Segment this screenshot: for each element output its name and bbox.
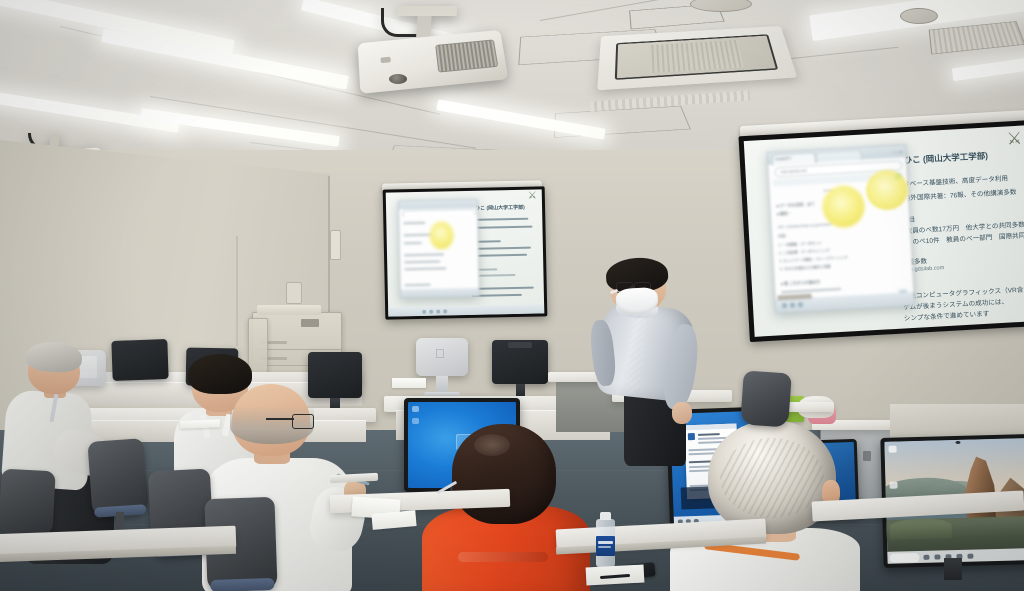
wall-switch[interactable] (330, 230, 341, 260)
taskbar-icon[interactable] (934, 554, 940, 559)
taskbar-search-box[interactable] (889, 553, 919, 563)
slide-title: こひこ (岡山大学工学部) (895, 150, 989, 167)
slide-text-line (471, 254, 527, 257)
handout-papers (392, 378, 426, 388)
printer-top-tray (257, 305, 321, 315)
chair-trim (210, 578, 274, 591)
start-button-icon[interactable] (923, 555, 929, 560)
glasses-temple (266, 418, 294, 420)
browser-tab-strip (399, 200, 477, 210)
office-chair[interactable] (87, 438, 148, 518)
desktop-icon[interactable] (889, 482, 897, 489)
chat-line: 内容： (778, 234, 789, 240)
projector-lens-icon (389, 74, 407, 84)
chat-text-line (404, 261, 440, 263)
chat-line: 1. 一次調査：データセット (779, 241, 823, 248)
wall-corner-seam (236, 236, 238, 346)
taskbar-icon[interactable] (782, 303, 787, 308)
slide-bullet: 国内外国際共著：76報、その他講演多数 (897, 186, 1017, 203)
office-chair[interactable] (0, 469, 56, 538)
attendee-glasses-icon (292, 414, 314, 429)
monitor-mountain-stand (944, 558, 962, 580)
taskbar-icon[interactable] (422, 310, 426, 314)
monitor-rear-1 (492, 340, 548, 384)
slide-text-line (471, 247, 531, 250)
slide-text-line (472, 287, 534, 290)
wall-outlet (286, 282, 302, 304)
projector-body (358, 30, 509, 94)
desktop-icon[interactable] (412, 406, 419, 412)
office-chair[interactable] (740, 370, 792, 427)
taskbar-icon[interactable] (798, 302, 803, 307)
bottle-label-text (598, 541, 613, 544)
wallpaper-grass-ridge (889, 518, 952, 539)
chat-line: URL: hokkaidoutokyo.ac.jp/research (778, 222, 833, 229)
browser-window[interactable]: ChatGPT ─ □ ✕ chat.openai.com ● ● ● ● デー… (766, 144, 915, 314)
chat-text-line (404, 242, 422, 244)
hair-highlight (474, 434, 510, 456)
slide-text-line (470, 218, 528, 221)
slide-title: こひこ (岡山大学工学部) (470, 204, 525, 212)
chat-line: 3. ネットワーク解析：ディープラーニング (779, 256, 847, 265)
browser-tab[interactable] (815, 150, 862, 164)
smoke-detector-icon (900, 8, 938, 24)
projector-status-led (380, 57, 390, 63)
chat-text-line (405, 284, 431, 286)
bottle-label-text (598, 546, 611, 548)
printer-control-panel[interactable] (301, 319, 319, 327)
water-bottle[interactable] (596, 519, 615, 567)
taskbar-icon[interactable] (429, 310, 433, 314)
taskbar-icon[interactable] (443, 309, 447, 313)
slide-bullet: ータベース基盤技術、高度データ利用 (896, 172, 1008, 188)
taskbar-icon[interactable] (967, 554, 973, 559)
apple-logo-icon:  (435, 347, 445, 360)
desktop-icon[interactable] (889, 446, 897, 453)
window-controls[interactable]: ─ □ ✕ (892, 149, 903, 155)
monitor-vesa-bracket (508, 342, 532, 348)
projector-vent-grille (435, 39, 498, 72)
projector-ceiling-plate (397, 6, 457, 16)
slide-text-line (470, 226, 532, 229)
ceiling-projector-main (345, 8, 515, 104)
chat-line: ● 質 これからの進め方 (781, 279, 821, 287)
chat-text-line (781, 288, 841, 293)
attendee-hair (25, 341, 82, 374)
projection-screen-left: ⚔ こひこ (岡山大学工学部) (383, 186, 548, 319)
window-taskbar (776, 292, 915, 313)
projector-light-hotspot-right (866, 170, 908, 210)
seminar-room-photo: ⚔ こひこ (岡山大学工学部) ータベース基盤技術、高度データ利用 国内外国際共… (0, 0, 1024, 591)
taskbar-icon[interactable] (790, 303, 795, 308)
browser-window[interactable] (398, 199, 480, 299)
projector-hotspot (429, 221, 454, 249)
chat-text-line (404, 253, 444, 255)
window-taskbar (401, 288, 479, 298)
handout-papers (180, 419, 220, 428)
university-crest-icon: ⚔ (528, 191, 537, 201)
browser-tab-title: ChatGPT (775, 155, 792, 161)
browser-url-text: chat.openai.com (780, 168, 807, 173)
university-crest-icon: ⚔ (1006, 130, 1022, 148)
bottle-cap[interactable] (600, 512, 611, 520)
imac-1:  (416, 338, 468, 376)
chat-text-line (403, 222, 425, 224)
taskbar-scrollbar[interactable] (777, 294, 811, 301)
chat-text-line (404, 267, 446, 269)
chat-line: 4. それらを踏まえた検討と改善 (780, 264, 831, 272)
chat-line: 2. 二次処理：データマイニング (779, 249, 830, 257)
taskbar-icon[interactable] (436, 310, 440, 314)
browser-page-body (399, 215, 479, 290)
projection-screen-right: ⚔ こひこ (岡山大学工学部) ータベース基盤技術、高度データ利用 国内外国際共… (738, 120, 1024, 342)
chat-line: ● データの活用：はて (776, 201, 815, 209)
desktop-taskbar (388, 304, 544, 316)
blouse-gather (458, 552, 548, 562)
chat-line: ● 解析・ (777, 211, 792, 218)
hair-strands (720, 438, 824, 518)
